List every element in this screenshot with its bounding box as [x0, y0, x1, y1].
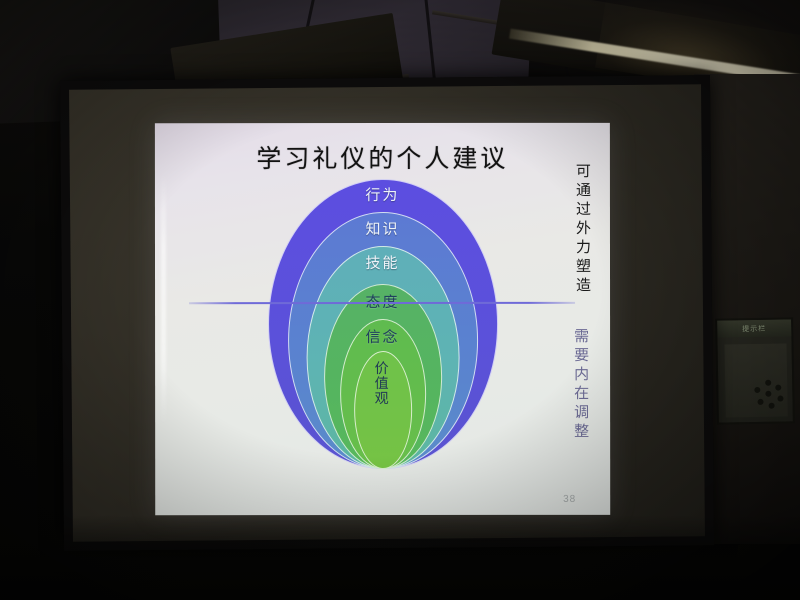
side-note-lower: 需要内在调整: [573, 328, 588, 442]
wall-poster: 提示栏: [715, 317, 795, 424]
wall-poster-header: 提示栏: [717, 319, 791, 337]
slide-title: 学习礼仪的个人建议: [155, 139, 610, 175]
slide-light-band: [161, 173, 166, 425]
projected-slide: 学习礼仪的个人建议 行为 知识 技能 态度 信念 价 值 观: [155, 123, 610, 515]
projection-screen-frame: 学习礼仪的个人建议 行为 知识 技能 态度 信念 价 值 观: [60, 75, 714, 551]
layer-values: 价 值 观: [354, 351, 412, 469]
slide-number: 38: [563, 494, 576, 505]
concentric-layers-diagram: 行为 知识 技能 态度 信念 价 值 观: [267, 179, 497, 469]
layer-values-label: 价 值 观: [375, 361, 391, 468]
side-note-upper: 可通过外力塑造: [575, 163, 590, 296]
horizontal-divider-line: [189, 302, 575, 304]
screenshot-stage: 提示栏 学习礼仪的个人建议 行为 知识 技: [0, 0, 800, 600]
wall-poster-dots: [753, 380, 784, 411]
floor-shadow: [0, 515, 800, 600]
